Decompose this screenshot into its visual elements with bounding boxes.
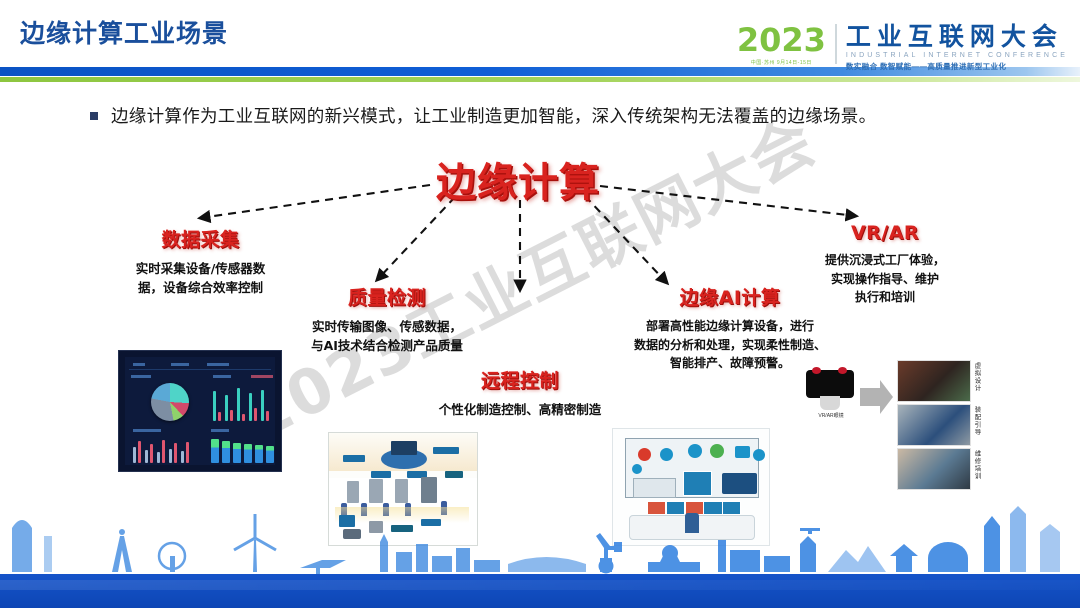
vr-photo xyxy=(897,360,971,402)
vr-photo-label: 虚拟设计 xyxy=(972,362,982,392)
bullet-line: 边缘计算作为工业互联网的新兴模式，让工业制造更加智能，深入传统架构无法覆盖的边缘… xyxy=(90,103,876,128)
node-heading: VR/AR xyxy=(800,222,970,244)
vr-device-caption: VR/AR眼镜 xyxy=(802,412,860,419)
factory-tag xyxy=(433,447,459,454)
node-body: 实时采集设备/传感器数 据，设备综合效率控制 xyxy=(108,259,293,298)
node-remote-control: 远程控制 个性化制造控制、高精密制造 xyxy=(400,366,640,419)
monitor-icon xyxy=(710,444,724,458)
node-body: 提供沉浸式工厂体验， 实现操作指导、维护 执行和培训 xyxy=(800,251,970,307)
dashboard-header-strip xyxy=(129,360,271,370)
slide-canvas: 边缘计算工业场景 2023 中国·苏州 9月14日-15日 工业互联网大会 IN… xyxy=(0,0,1080,608)
vr-lens-icon xyxy=(838,367,847,374)
node-quality-inspection: 质量检测 实时传输图像、传感数据， 与AI技术结合检测产品质量 xyxy=(272,283,502,356)
node-body: 实时传输图像、传感数据， 与AI技术结合检测产品质量 xyxy=(272,317,502,356)
dashboard-bar-chart-2 xyxy=(133,437,195,463)
gauge-icon xyxy=(688,444,702,458)
page-title: 边缘计算工业场景 xyxy=(20,14,228,50)
vr-photo xyxy=(897,404,971,446)
node-data-collection: 数据采集 实时采集设备/传感器数 据，设备综合效率控制 xyxy=(108,225,293,298)
vr-headset-icon xyxy=(806,370,854,398)
footer-band-sheen xyxy=(0,580,1080,590)
factory-server-icon xyxy=(391,441,417,455)
node-vr-ar: VR/AR 提供沉浸式工厂体验， 实现操作指导、维护 执行和培训 xyxy=(800,222,970,307)
square-bullet-icon xyxy=(90,112,98,120)
logo-year: 2023 xyxy=(737,24,826,56)
node-heading: 质量检测 xyxy=(272,283,502,310)
wifi-icon xyxy=(632,464,642,474)
node-body: 个性化制造控制、高精密制造 xyxy=(400,400,640,419)
image-vr-ar-group: VR/AR眼镜 虚拟设计 装配引导 维修培训 xyxy=(800,358,985,498)
diagram-center-title: 边缘计算 xyxy=(436,150,600,208)
dashboard-bar-chart-3 xyxy=(211,437,275,463)
header-rule-green xyxy=(0,77,1080,82)
footer-skyline xyxy=(0,506,1080,576)
image-data-dashboard xyxy=(118,350,282,472)
logo-english-name: INDUSTRIAL INTERNET CONFERENCE xyxy=(846,52,1068,59)
footer-band xyxy=(0,574,1080,608)
control-room-machine xyxy=(722,473,756,494)
vr-strap xyxy=(820,396,840,410)
display-icon xyxy=(735,446,750,458)
factory-tag xyxy=(343,455,365,462)
dashboard-bar-chart-1 xyxy=(213,383,275,421)
vr-photo xyxy=(897,448,971,490)
vr-flow-arrow-icon xyxy=(860,378,894,416)
dashboard-pie-chart xyxy=(151,383,189,421)
logo-chinese-name: 工业互联网大会 xyxy=(846,24,1068,50)
vr-lens-icon xyxy=(812,367,821,374)
control-room-main-screen xyxy=(683,471,712,496)
dashboard-canvas xyxy=(125,357,275,465)
logo-divider xyxy=(835,24,837,64)
control-room-console xyxy=(633,478,676,499)
node-heading: 数据采集 xyxy=(108,225,293,252)
alert-icon xyxy=(638,448,651,461)
bullet-text: 边缘计算作为工业互联网的新兴模式，让工业制造更加智能，深入传统架构无法覆盖的边缘… xyxy=(111,103,876,128)
logo-tagline: 数实融合 数智赋能——高质量推进新型工业化 xyxy=(846,61,1068,72)
vr-photo-label: 维修培训 xyxy=(972,450,982,480)
conference-logo: 2023 中国·苏州 9月14日-15日 工业互联网大会 INDUSTRIAL … xyxy=(737,24,1068,72)
logo-year-subtitle: 中国·苏州 9月14日-15日 xyxy=(737,59,826,66)
wifi-icon xyxy=(753,449,765,461)
vr-photo-label: 装配引导 xyxy=(972,406,982,436)
sensor-icon xyxy=(660,448,673,461)
